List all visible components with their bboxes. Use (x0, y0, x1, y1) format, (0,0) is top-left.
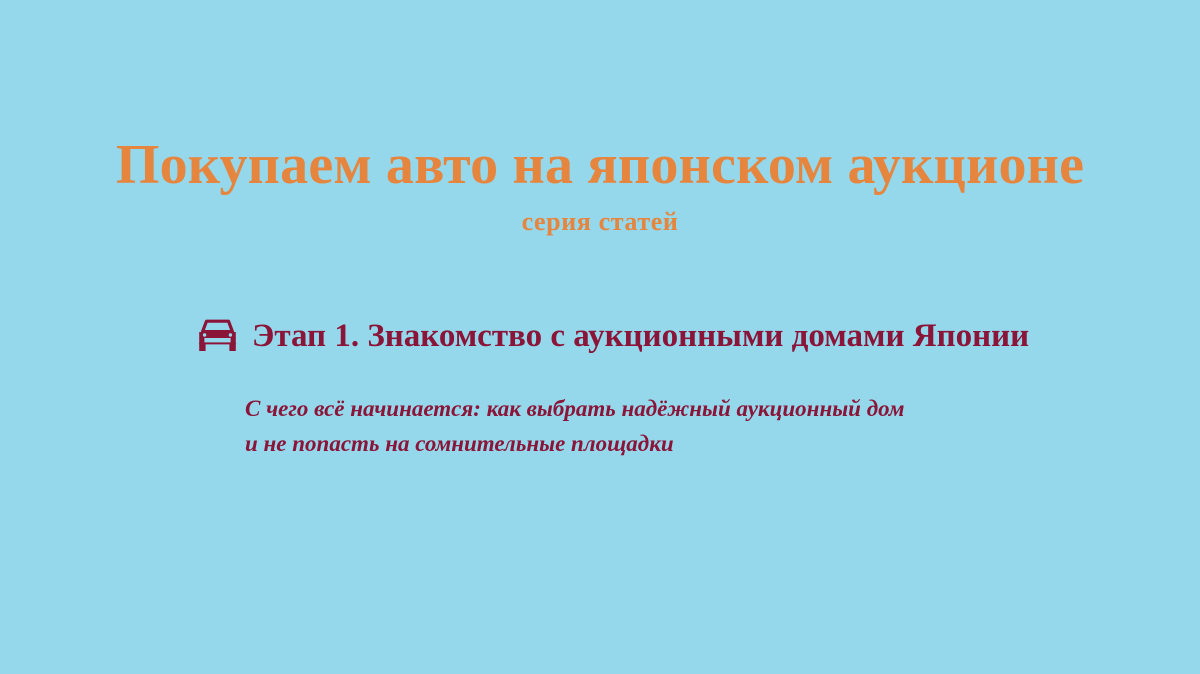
description-line: С чего всё начинается: как выбрать надёж… (245, 392, 1075, 427)
stage-heading-label: Этап 1. Знакомство с аукционными домами … (252, 318, 1029, 354)
title-block: Покупаем авто на японском аукционе серия… (0, 136, 1200, 237)
page-subtitle: серия статей (0, 208, 1200, 237)
slide-canvas: Покупаем авто на японском аукционе серия… (0, 0, 1200, 674)
page-title: Покупаем авто на японском аукционе (0, 136, 1200, 194)
description-block: С чего всё начинается: как выбрать надёж… (245, 392, 1075, 462)
car-front-icon (196, 319, 239, 353)
stage-heading-row: Этап 1. Знакомство с аукционными домами … (196, 318, 1029, 354)
description-line: и не попасть на сомнительные площадки (245, 427, 1075, 462)
